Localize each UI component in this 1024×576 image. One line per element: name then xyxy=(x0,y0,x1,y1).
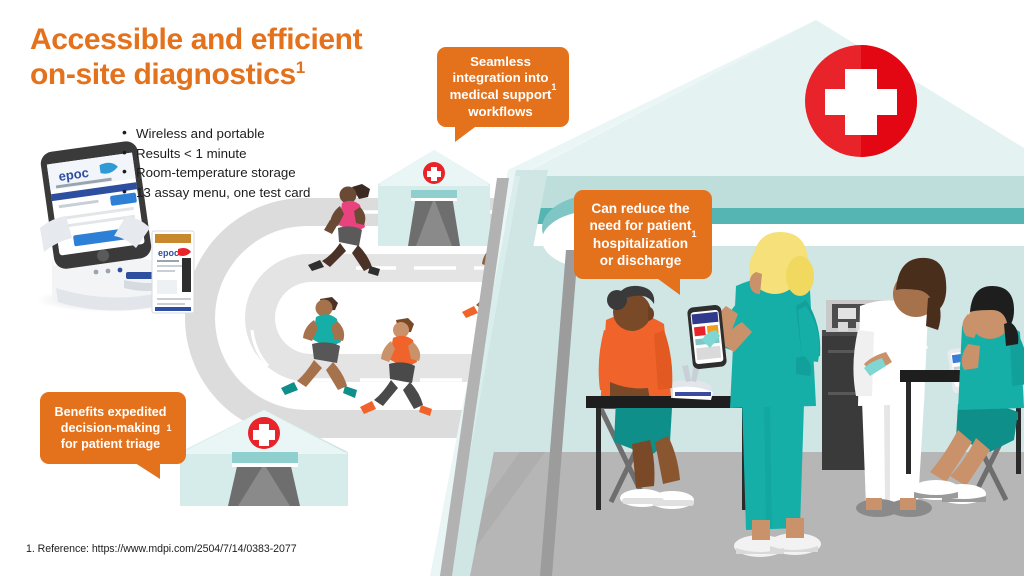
title-superscript: 1 xyxy=(296,58,305,77)
callout-seamless-integration: Seamless integration into medical suppor… xyxy=(437,47,569,127)
bullet-item: Results < 1 minute xyxy=(122,144,382,164)
title-line1: Accessible and efficient xyxy=(30,23,362,56)
bullet-item: Room-temperature storage xyxy=(122,163,382,183)
page-title: Accessible and efficient on-site diagnos… xyxy=(30,22,450,92)
callout-superscript: 1 xyxy=(166,420,171,436)
title-line2: on-site diagnostics xyxy=(30,58,296,91)
tent-small xyxy=(378,150,490,246)
svg-text:epoc: epoc xyxy=(158,248,179,258)
bullet-item: 13 assay menu, one test card xyxy=(122,183,382,203)
feature-bullet-list: Wireless and portable Results < 1 minute… xyxy=(122,124,382,202)
footnote-reference: 1. Reference: https://www.mdpi.com/2504/… xyxy=(26,543,297,555)
callout-reduce-hospitalization: Can reduce the need for patient hospital… xyxy=(574,190,712,279)
callout-text: Seamless integration into medical suppor… xyxy=(450,54,552,120)
bullet-item: Wireless and portable xyxy=(122,124,382,144)
callout-text: Benefits expedited decision-making for p… xyxy=(55,404,167,452)
callout-superscript: 1 xyxy=(551,79,556,96)
infographic-root: epoc epoc xyxy=(0,0,1024,576)
callout-superscript: 1 xyxy=(691,226,696,243)
callout-benefits-triage: Benefits expedited decision-making for p… xyxy=(40,392,186,464)
callout-text: Can reduce the need for patient hospital… xyxy=(590,200,692,270)
test-card-package: epoc xyxy=(152,231,194,313)
